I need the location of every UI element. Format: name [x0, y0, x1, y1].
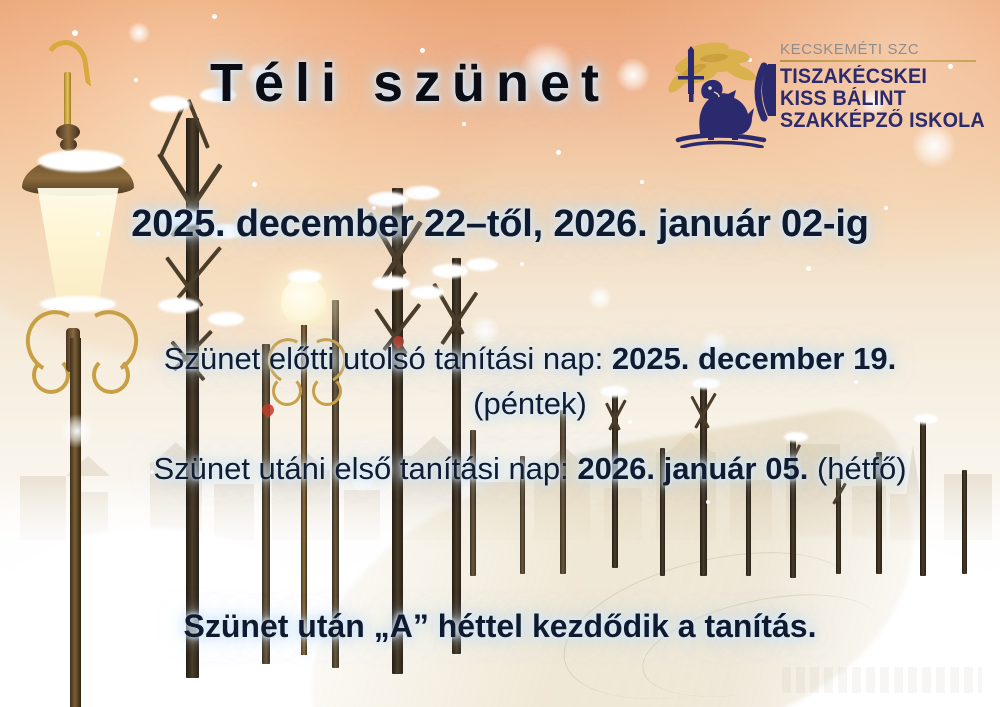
- first-school-day-label: Szünet utáni első tanítási nap:: [153, 451, 577, 486]
- first-school-day-weekday: (hétfő): [808, 451, 906, 486]
- branch-snow: [208, 312, 244, 326]
- lamp-scrollwork: [32, 356, 70, 394]
- branch-snow: [372, 276, 410, 290]
- lamp-knob: [60, 138, 77, 151]
- branch-snow: [466, 258, 498, 271]
- snowflake: [706, 500, 710, 504]
- snowflake: [252, 182, 257, 187]
- branch-snow: [404, 186, 440, 200]
- snowflake: [462, 122, 466, 126]
- bokeh-glow: [60, 414, 94, 448]
- bokeh-glow: [128, 22, 150, 44]
- tree-trunk: [920, 420, 926, 576]
- winter-break-poster: KECSKEMÉTI SZC TISZAKÉCSKEI KISS BÁLINT …: [0, 0, 1000, 707]
- round-lamp-snow: [288, 270, 322, 283]
- snowflake: [806, 266, 811, 271]
- snowflake: [556, 150, 561, 155]
- branch-snow: [432, 264, 468, 278]
- snowflake: [640, 180, 644, 184]
- last-school-day-line: Szünet előtti utolsó tanítási nap: 2025.…: [120, 337, 940, 427]
- lamp-snow: [38, 150, 124, 172]
- last-school-day-weekday: (péntek): [473, 386, 587, 421]
- bokeh-glow: [588, 286, 612, 310]
- week-type-note: Szünet után „A” héttel kezdődik a tanítá…: [0, 608, 1000, 645]
- last-school-day-label: Szünet előtti utolsó tanítási nap:: [164, 341, 612, 376]
- last-school-day-date: 2025. december 19.: [612, 341, 896, 376]
- first-school-day-date: 2026. január 05.: [577, 451, 808, 486]
- lamp-post: [70, 338, 81, 707]
- tree-trunk: [560, 410, 566, 574]
- snowflake: [72, 30, 78, 36]
- snowflake: [212, 14, 217, 19]
- break-date-range: 2025. december 22–től, 2026. január 02-i…: [0, 203, 1000, 246]
- snowflake: [520, 262, 524, 266]
- branch-snow: [784, 432, 808, 442]
- tree-trunk: [962, 470, 967, 574]
- branch-snow: [410, 286, 444, 299]
- first-school-day-line: Szünet utáni első tanítási nap: 2026. ja…: [120, 447, 940, 492]
- round-lamp-glass: [281, 277, 327, 327]
- poster-title: Téli szünet: [0, 52, 1000, 114]
- faint-watermark: [782, 667, 982, 693]
